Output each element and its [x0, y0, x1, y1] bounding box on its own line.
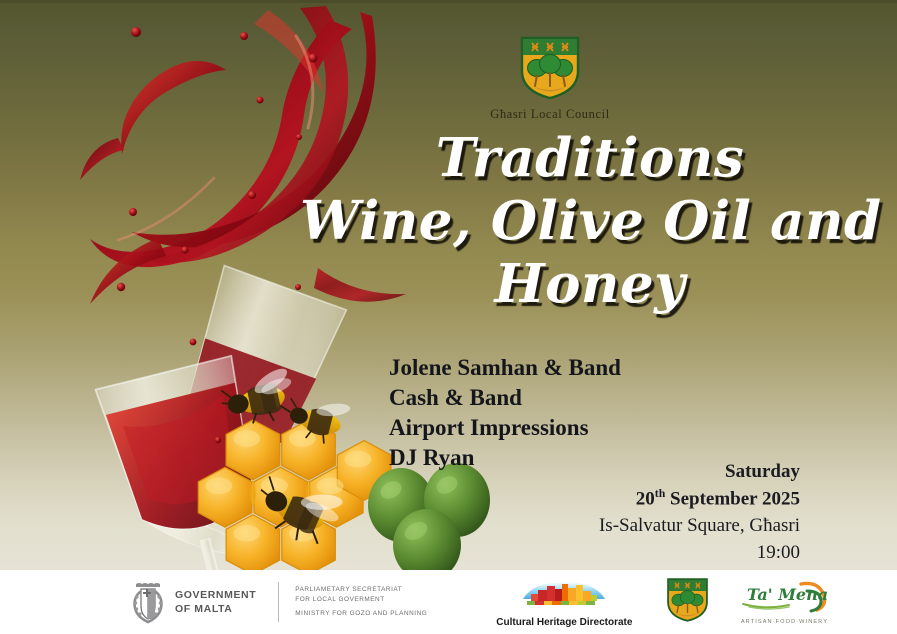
ghasri-coat-of-arms-icon — [519, 35, 581, 101]
malta-coat-of-arms-icon — [130, 580, 166, 624]
ghasri-council-footer-logo — [666, 576, 709, 629]
parliamentary-secretariat-label: PARLIAMETARY SECRETARIAT FOR LOCAL GOVER… — [295, 585, 427, 620]
cultural-heritage-directorate-logo: Cultural Heritage Directorate — [496, 577, 632, 628]
tamena-logo: Ta' Mena ARTISAN·FOOD·WINERY — [739, 579, 829, 625]
government-of-malta-logo: GOVERNMENT OF MALTA — [130, 580, 256, 624]
event-date-number: 20 — [636, 488, 655, 509]
event-day: Saturday — [599, 459, 800, 486]
event-date: 20th September 2025 — [599, 486, 800, 513]
council-name-label: Għasri Local Council — [447, 107, 653, 122]
government-of-malta-label: GOVERNMENT OF MALTA — [175, 588, 256, 616]
secretariat-line-3: MINISTRY FOR GOZO AND PLANNING — [295, 609, 427, 619]
tamena-tagline: ARTISAN·FOOD·WINERY — [739, 619, 829, 625]
event-poster: Għasri Local Council Traditions Wine, Ol… — [0, 0, 897, 634]
secretariat-line-1: PARLIAMETARY SECRETARIAT — [295, 585, 427, 595]
svg-text:Ta' Mena: Ta' Mena — [747, 585, 828, 604]
event-venue: Is-Salvatur Square, Għasri — [599, 513, 800, 540]
cultural-heritage-skyline-icon — [515, 577, 613, 611]
event-time: 19:00 — [599, 540, 800, 567]
gov-line-2: OF MALTA — [175, 602, 256, 616]
cultural-heritage-label: Cultural Heritage Directorate — [496, 617, 632, 628]
footer-divider — [278, 582, 279, 622]
olives-icon — [368, 463, 490, 570]
event-date-rest: September 2025 — [665, 488, 800, 509]
gov-line-1: GOVERNMENT — [175, 588, 256, 602]
honeycomb-icon — [198, 420, 391, 570]
secretariat-line-2: FOR LOCAL GOVERMENT — [295, 595, 427, 605]
event-date-ordinal: th — [655, 487, 665, 500]
performer-list: Jolene Samhan & Band Cash & Band Airport… — [389, 353, 789, 473]
event-details: Saturday 20th September 2025 Is-Salvatur… — [599, 459, 800, 567]
council-crest-block: Għasri Local Council — [447, 35, 653, 122]
ghasri-coat-of-arms-icon — [666, 576, 709, 624]
sponsor-footer: GOVERNMENT OF MALTA PARLIAMETARY SECRETA… — [0, 570, 897, 634]
list-item: Cash & Band — [389, 383, 789, 413]
tamena-logo-icon: Ta' Mena — [739, 579, 829, 613]
list-item: Jolene Samhan & Band — [389, 353, 789, 383]
list-item: Airport Impressions — [389, 413, 789, 443]
